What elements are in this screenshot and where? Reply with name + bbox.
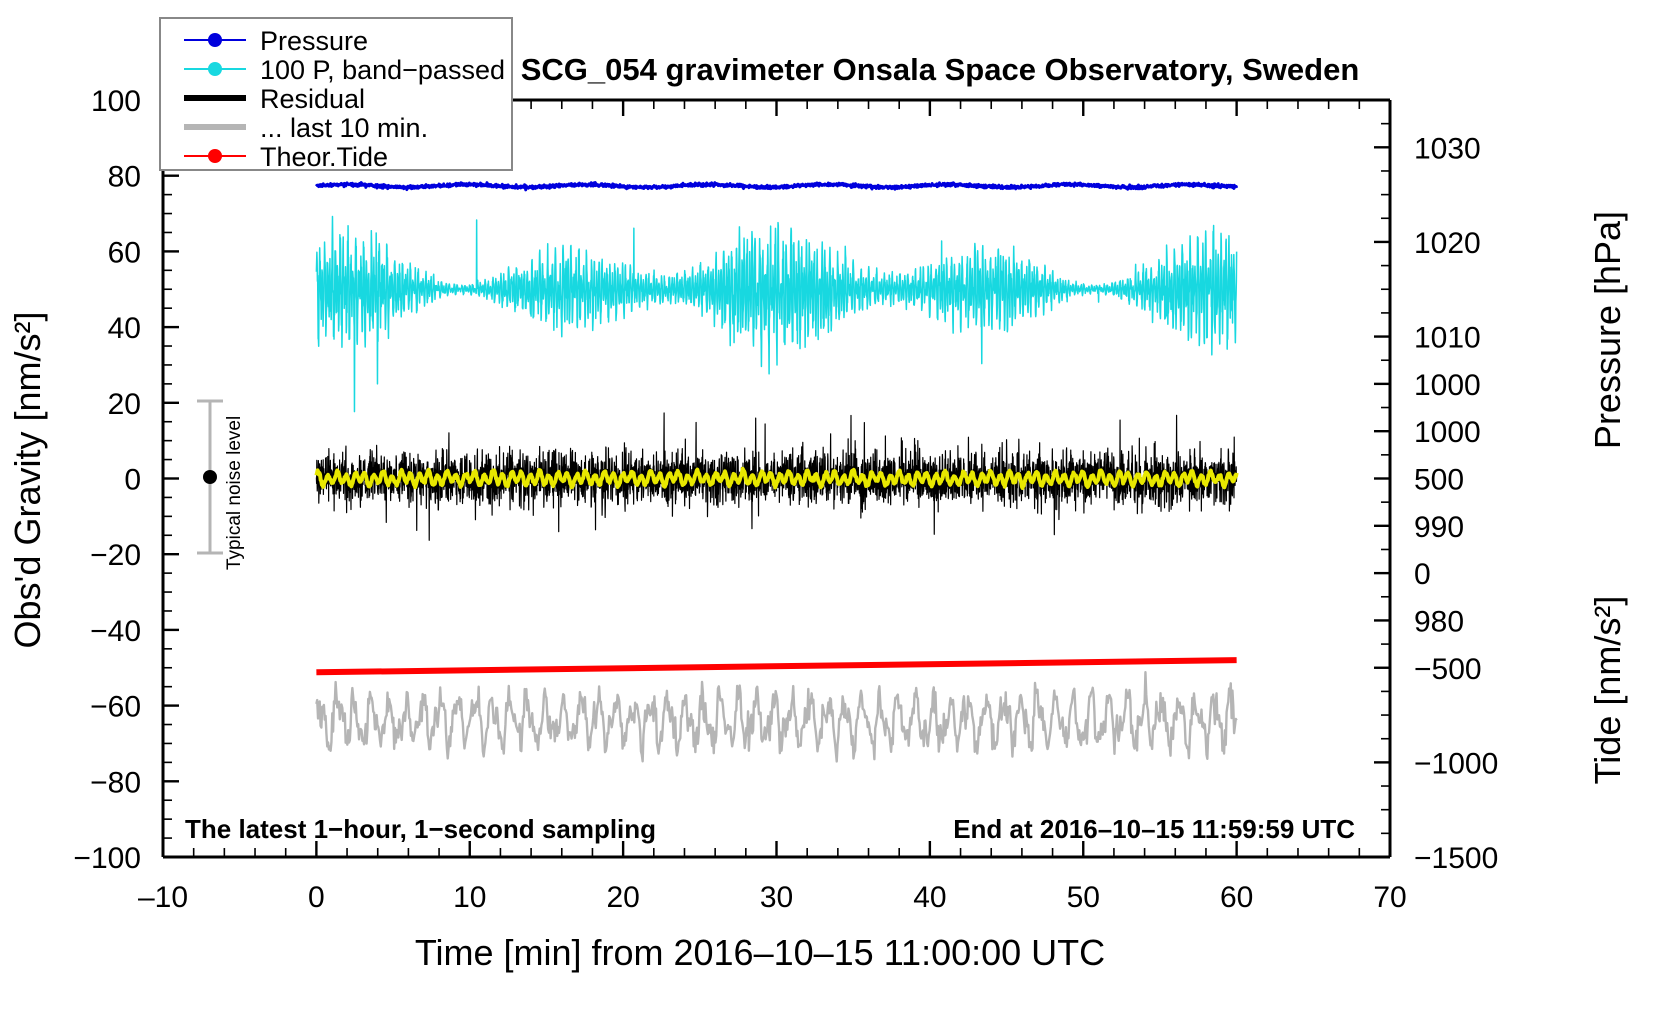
- series-last-10-min: [316, 672, 1236, 761]
- x-axis-title: Time [min] from 2016–10–15 11:00:00 UTC: [415, 932, 1105, 973]
- tide-tick-label: 500: [1414, 464, 1464, 497]
- pressure-tick-label: 990: [1414, 511, 1464, 544]
- noise-errorbar-marker: [203, 470, 217, 484]
- tide-tick-label: −500: [1414, 653, 1482, 686]
- y-tick-label: 100: [91, 85, 141, 118]
- x-tick-label: 10: [453, 881, 486, 914]
- tide-tick-label: 0: [1414, 558, 1431, 591]
- legend-item-label: Residual: [260, 84, 365, 114]
- y-tick-label: 80: [108, 161, 141, 194]
- tick-label-layer: –10010203040506070−100−80−60−40−20020406…: [73, 85, 1498, 914]
- tide-tick-label: −1000: [1414, 747, 1498, 780]
- tide-tick-label: −1500: [1414, 842, 1498, 875]
- pressure-tick-label: 1020: [1414, 227, 1481, 260]
- right-tide-axis-title: Tide [nm/s²]: [1587, 596, 1628, 785]
- y-tick-label: −80: [90, 766, 141, 799]
- x-tick-label: 50: [1067, 881, 1100, 914]
- right-pressure-axis-title: Pressure [hPa]: [1587, 211, 1628, 449]
- tide-tick-label: 1000: [1414, 369, 1481, 402]
- legend-item-label: Pressure: [260, 26, 368, 56]
- y-tick-label: −60: [90, 691, 141, 724]
- end-time-note: End at 2016–10–15 11:59:59 UTC: [953, 814, 1355, 844]
- x-tick-label: 60: [1220, 881, 1253, 914]
- y-tick-label: 20: [108, 388, 141, 421]
- pressure-tick-label: 1000: [1414, 416, 1481, 449]
- series-band-passed: [316, 216, 1236, 411]
- x-tick-label: –10: [138, 881, 188, 914]
- pressure-tick-label: 1030: [1414, 132, 1481, 165]
- legend-swatch-marker: [208, 149, 222, 163]
- y-tick-label: 40: [108, 312, 141, 345]
- legend-item-label: ... last 10 min.: [260, 113, 428, 143]
- chart-root: –10010203040506070−100−80−60−40−20020406…: [0, 0, 1660, 1020]
- legend-swatch-marker: [208, 62, 222, 76]
- y-tick-label: 60: [108, 236, 141, 269]
- x-tick-label: 30: [760, 881, 793, 914]
- x-tick-label: 0: [308, 881, 325, 914]
- typical-noise-level-annotation: Typical noise level: [197, 401, 245, 570]
- y-tick-label: 0: [124, 464, 141, 497]
- x-tick-label: 40: [913, 881, 946, 914]
- pressure-tick-label: 980: [1414, 605, 1464, 638]
- legend-swatch-marker: [208, 33, 222, 47]
- legend-item-label: Theor.Tide: [260, 142, 388, 172]
- x-tick-label: 70: [1373, 881, 1406, 914]
- y-tick-label: −40: [90, 615, 141, 648]
- sampling-note: The latest 1−hour, 1−second sampling: [185, 814, 656, 844]
- y-axis-title: Obs'd Gravity [nm/s²]: [7, 312, 48, 649]
- legend: Pressure100 P, band−passedResidual... la…: [160, 18, 512, 172]
- series-theor-tide: [316, 660, 1236, 672]
- chart-title: SCG_054 gravimeter Onsala Space Observat…: [521, 52, 1360, 87]
- legend-item-label: 100 P, band−passed: [260, 55, 505, 85]
- y-tick-label: −20: [90, 539, 141, 572]
- x-tick-label: 20: [606, 881, 639, 914]
- y-tick-label: −100: [73, 842, 141, 875]
- series-layer: [316, 182, 1236, 761]
- noise-level-label: Typical noise level: [224, 416, 245, 570]
- gravimeter-timeseries-chart: –10010203040506070−100−80−60−40−20020406…: [0, 0, 1660, 1020]
- pressure-tick-label: 1010: [1414, 322, 1481, 355]
- series-pressure: [316, 182, 1236, 189]
